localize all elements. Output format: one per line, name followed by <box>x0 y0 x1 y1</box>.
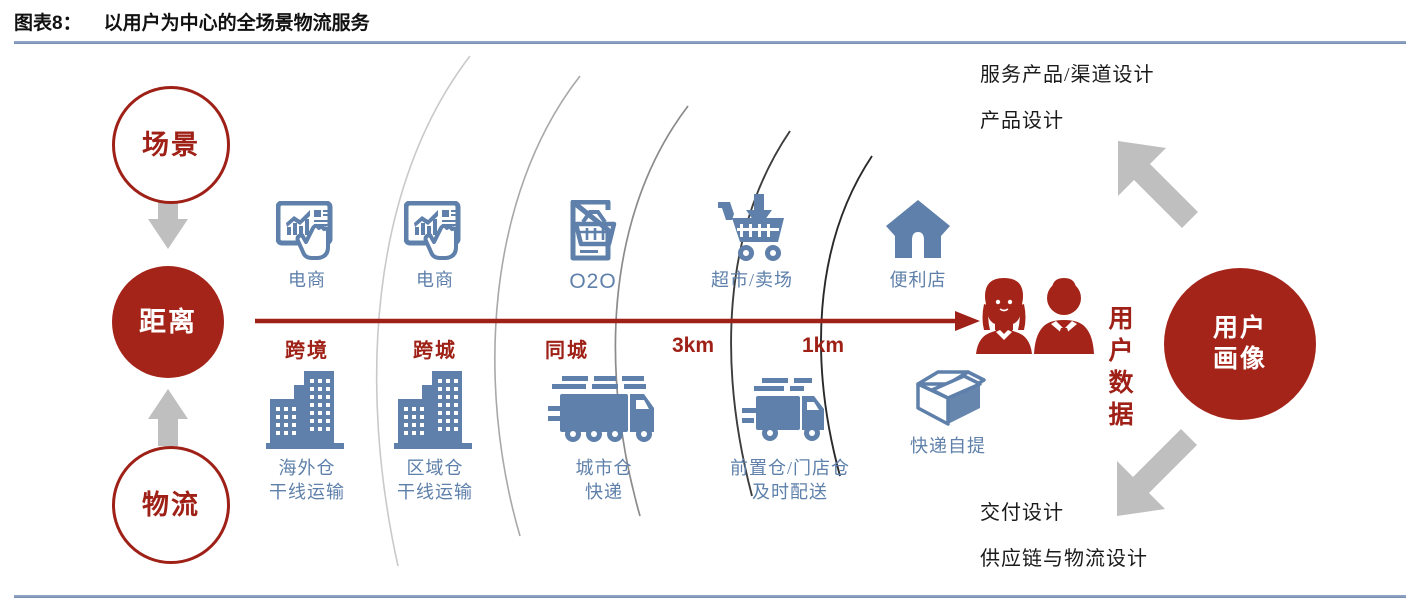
note-bottom-1: 交付设计 <box>980 496 1064 525</box>
bottom-divider <box>14 595 1406 598</box>
column-1-logistics-label: 区域仓 干线运输 <box>371 456 499 505</box>
buildings-icon <box>394 371 476 454</box>
column-1-logistics-line1: 区域仓 <box>407 458 464 478</box>
circle-user-persona-label: 用户 画像 <box>1213 313 1267 376</box>
truck-small-icon <box>742 378 834 451</box>
note-top-1: 服务产品/渠道设计 <box>980 58 1155 87</box>
figure-title-text: 以用户为中心的全场景物流服务 <box>104 13 370 34</box>
note-top-2: 产品设计 <box>980 104 1064 133</box>
column-4-scene-label: 便利店 <box>856 268 980 292</box>
shopping-cart-download-icon <box>716 194 788 267</box>
page-title: 图表8：以用户为中心的全场景物流服务 <box>14 8 370 35</box>
column-2-distance-label: 同城 <box>510 334 624 363</box>
column-1-distance-label: 跨城 <box>378 334 492 363</box>
tablet-chart-touch-icon <box>276 201 338 266</box>
arc-same-city <box>615 106 688 516</box>
truck-large-icon <box>548 376 664 453</box>
column-2-logistics-line2: 快递 <box>585 482 623 502</box>
column-0-logistics-label: 海外仓 干线运输 <box>243 456 371 505</box>
circle-distance-label: 距离 <box>139 308 197 336</box>
circle-logistics-label: 物流 <box>142 491 200 519</box>
column-0-distance-label: 跨境 <box>250 334 364 363</box>
open-box-icon <box>908 362 988 431</box>
distance-axis <box>255 311 980 331</box>
column-4-logistics-label: 快递自提 <box>884 434 1012 458</box>
column-1-logistics-line2: 干线运输 <box>397 482 473 502</box>
title-divider <box>14 41 1406 44</box>
circle-logistics[interactable]: 物流 <box>112 446 230 564</box>
buildings-icon <box>266 371 348 454</box>
column-0-logistics-line2: 干线运输 <box>269 482 345 502</box>
column-2-scene-label: O2O <box>536 268 650 296</box>
column-3-scene-label: 超市/卖场 <box>686 268 818 292</box>
diagram-canvas: 场景 距离 物流 <box>0 46 1418 595</box>
mobile-basket-icon <box>568 200 618 267</box>
column-1-scene-label: 电商 <box>378 268 492 292</box>
column-3-logistics-line2: 及时配送 <box>752 482 828 502</box>
diagonal-arrow-up-left-icon <box>1118 141 1198 228</box>
persona-line-1: 用户 <box>1213 315 1267 342</box>
column-3-distance-label: 3km <box>636 334 750 358</box>
user-data-char-0: 用 <box>1104 304 1138 336</box>
user-data-char-1: 户 <box>1104 336 1138 368</box>
column-2-logistics-line1: 城市仓 <box>576 458 633 478</box>
diagonal-arrow-down-left-icon <box>1117 429 1197 516</box>
column-3-logistics-line1: 前置仓/门店仓 <box>730 458 850 478</box>
circle-scene-label: 场景 <box>142 131 200 159</box>
column-4-distance-label: 1km <box>766 334 880 358</box>
circle-user-persona[interactable]: 用户 画像 <box>1164 268 1316 420</box>
column-3-logistics-label: 前置仓/门店仓 及时配送 <box>702 456 878 505</box>
house-icon <box>884 198 952 265</box>
circle-scene[interactable]: 场景 <box>112 86 230 204</box>
column-2-logistics-label: 城市仓 快递 <box>540 456 668 505</box>
tablet-chart-touch-icon <box>404 201 466 266</box>
figure-page: 图表8：以用户为中心的全场景物流服务 <box>0 0 1418 610</box>
user-data-char-3: 据 <box>1104 400 1138 432</box>
user-data-label: 用 户 数 据 <box>1104 304 1138 432</box>
figure-number: 图表8： <box>14 13 82 34</box>
column-0-scene-label: 电商 <box>250 268 364 292</box>
circle-distance[interactable]: 距离 <box>112 266 224 378</box>
column-0-logistics-line1: 海外仓 <box>279 458 336 478</box>
arrow-down-icon <box>148 389 188 446</box>
persona-line-2: 画像 <box>1213 346 1267 373</box>
two-users-icon <box>974 276 1098 361</box>
note-bottom-2: 供应链与物流设计 <box>980 542 1148 571</box>
user-data-char-2: 数 <box>1104 368 1138 400</box>
